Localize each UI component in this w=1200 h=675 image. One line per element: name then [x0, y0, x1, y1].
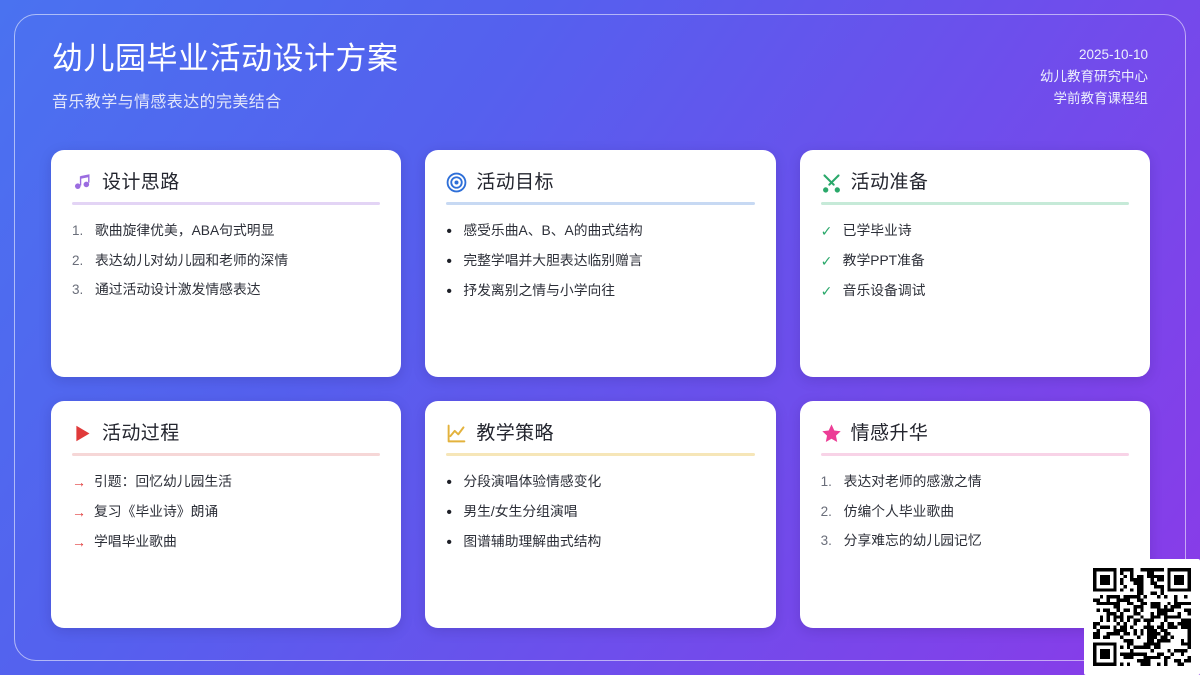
- header-meta: 2025-10-10 幼儿教育研究中心 学前教育课程组: [1040, 44, 1148, 110]
- card-1[interactable]: 设计思路1.歌曲旋律优美，ABA句式明显2.表达幼儿对幼儿园和老师的深情3.通过…: [51, 150, 401, 377]
- card-header: 活动过程: [72, 423, 380, 444]
- list-item-text: 图谱辅助理解曲式结构: [463, 532, 754, 553]
- list-item: 3.分享难忘的幼儿园记忆: [821, 531, 1129, 552]
- card-title: 活动目标: [476, 173, 554, 192]
- list-item-text: 表达幼儿对幼儿园和老师的深情: [95, 251, 380, 272]
- tools-icon: [821, 172, 842, 193]
- header-department: 学前教育课程组: [1040, 88, 1148, 110]
- list-item-text: 复习《毕业诗》朗诵: [94, 502, 380, 523]
- qr-code-container[interactable]: [1084, 559, 1200, 675]
- list-number: 3.: [821, 531, 836, 551]
- bullet-icon: •: [446, 251, 455, 272]
- target-icon: [446, 172, 467, 193]
- play-icon: [72, 423, 93, 444]
- list-item: •图谱辅助理解曲式结构: [446, 532, 754, 553]
- bullet-icon: •: [446, 221, 455, 242]
- card-divider: [72, 202, 380, 205]
- list-item-text: 完整学唱并大胆表达临别赠言: [463, 251, 754, 272]
- list-item: •男生/女生分组演唱: [446, 502, 754, 523]
- list-item-text: 男生/女生分组演唱: [463, 502, 754, 523]
- check-icon: ✓: [821, 251, 835, 272]
- header-organization: 幼儿教育研究中心: [1040, 66, 1148, 88]
- check-icon: ✓: [821, 281, 835, 302]
- card-header: 教学策略: [446, 423, 754, 444]
- list-item-text: 分享难忘的幼儿园记忆: [844, 531, 1129, 552]
- list-item: ✓教学PPT准备: [821, 251, 1129, 272]
- list-item: 2.表达幼儿对幼儿园和老师的深情: [72, 251, 380, 272]
- list-number: 2.: [821, 502, 836, 522]
- list-item: ✓已学毕业诗: [821, 221, 1129, 242]
- line-chart-icon: [446, 423, 467, 444]
- list-item: 3.通过活动设计激发情感表达: [72, 280, 380, 301]
- list-item-text: 通过活动设计激发情感表达: [95, 280, 380, 301]
- arrow-icon: →: [72, 532, 86, 553]
- list-item-text: 已学毕业诗: [843, 221, 1129, 242]
- list-item-text: 学唱毕业歌曲: [94, 532, 380, 553]
- music-note-icon: [72, 172, 93, 193]
- card-list: 1.表达对老师的感激之情2.仿编个人毕业歌曲3.分享难忘的幼儿园记忆: [821, 472, 1129, 552]
- list-item: •分段演唱体验情感变化: [446, 472, 754, 493]
- list-item-text: 表达对老师的感激之情: [844, 472, 1129, 493]
- list-number: 1.: [72, 221, 87, 241]
- header-date: 2025-10-10: [1040, 44, 1148, 66]
- bullet-icon: •: [446, 472, 455, 493]
- card-grid: 设计思路1.歌曲旋律优美，ABA句式明显2.表达幼儿对幼儿园和老师的深情3.通过…: [51, 150, 1150, 628]
- list-number: 3.: [72, 280, 87, 300]
- card-3[interactable]: 活动准备✓已学毕业诗✓教学PPT准备✓音乐设备调试: [800, 150, 1150, 377]
- list-item: →复习《毕业诗》朗诵: [72, 502, 380, 523]
- card-header: 设计思路: [72, 172, 380, 193]
- list-number: 1.: [821, 472, 836, 492]
- list-item-text: 分段演唱体验情感变化: [463, 472, 754, 493]
- arrow-icon: →: [72, 502, 86, 523]
- card-title: 活动过程: [102, 424, 180, 443]
- list-item: ✓音乐设备调试: [821, 281, 1129, 302]
- card-divider: [446, 453, 754, 456]
- bullet-icon: •: [446, 281, 455, 302]
- list-item: 2.仿编个人毕业歌曲: [821, 502, 1129, 523]
- page-subtitle: 音乐教学与情感表达的完美结合: [52, 88, 1148, 112]
- bullet-icon: •: [446, 532, 455, 553]
- card-list: →引题：回忆幼儿园生活→复习《毕业诗》朗诵→学唱毕业歌曲: [72, 472, 380, 553]
- list-item-text: 引题：回忆幼儿园生活: [94, 472, 380, 493]
- card-divider: [446, 202, 754, 205]
- list-item: →引题：回忆幼儿园生活: [72, 472, 380, 493]
- slide-header: 幼儿园毕业活动设计方案 音乐教学与情感表达的完美结合 2025-10-10 幼儿…: [52, 40, 1148, 140]
- card-header: 情感升华: [821, 423, 1129, 444]
- card-list: ✓已学毕业诗✓教学PPT准备✓音乐设备调试: [821, 221, 1129, 302]
- card-header: 活动准备: [821, 172, 1129, 193]
- list-item-text: 抒发离别之情与小学向往: [463, 281, 754, 302]
- star-icon: [821, 423, 842, 444]
- page-title: 幼儿园毕业活动设计方案: [52, 40, 1148, 79]
- list-item-text: 仿编个人毕业歌曲: [844, 502, 1129, 523]
- card-4[interactable]: 活动过程→引题：回忆幼儿园生活→复习《毕业诗》朗诵→学唱毕业歌曲: [51, 401, 401, 628]
- list-item: •完整学唱并大胆表达临别赠言: [446, 251, 754, 272]
- list-item-text: 音乐设备调试: [843, 281, 1129, 302]
- card-list: •分段演唱体验情感变化•男生/女生分组演唱•图谱辅助理解曲式结构: [446, 472, 754, 553]
- card-title: 设计思路: [102, 173, 180, 192]
- card-list: •感受乐曲A、B、A的曲式结构•完整学唱并大胆表达临别赠言•抒发离别之情与小学向…: [446, 221, 754, 302]
- list-item: →学唱毕业歌曲: [72, 532, 380, 553]
- list-number: 2.: [72, 251, 87, 271]
- card-header: 活动目标: [446, 172, 754, 193]
- bullet-icon: •: [446, 502, 455, 523]
- list-item: •抒发离别之情与小学向往: [446, 281, 754, 302]
- list-item: 1.表达对老师的感激之情: [821, 472, 1129, 493]
- arrow-icon: →: [72, 472, 86, 493]
- list-item: •感受乐曲A、B、A的曲式结构: [446, 221, 754, 242]
- check-icon: ✓: [821, 221, 835, 242]
- card-divider: [821, 453, 1129, 456]
- list-item-text: 歌曲旋律优美，ABA句式明显: [95, 221, 380, 242]
- card-divider: [72, 453, 380, 456]
- card-5[interactable]: 教学策略•分段演唱体验情感变化•男生/女生分组演唱•图谱辅助理解曲式结构: [425, 401, 775, 628]
- card-list: 1.歌曲旋律优美，ABA句式明显2.表达幼儿对幼儿园和老师的深情3.通过活动设计…: [72, 221, 380, 301]
- card-title: 活动准备: [851, 173, 929, 192]
- list-item: 1.歌曲旋律优美，ABA句式明显: [72, 221, 380, 242]
- card-title: 情感升华: [851, 424, 929, 443]
- list-item-text: 教学PPT准备: [843, 251, 1129, 272]
- card-2[interactable]: 活动目标•感受乐曲A、B、A的曲式结构•完整学唱并大胆表达临别赠言•抒发离别之情…: [425, 150, 775, 377]
- list-item-text: 感受乐曲A、B、A的曲式结构: [463, 221, 754, 242]
- card-divider: [821, 202, 1129, 205]
- qr-code: [1093, 568, 1191, 666]
- card-title: 教学策略: [476, 424, 554, 443]
